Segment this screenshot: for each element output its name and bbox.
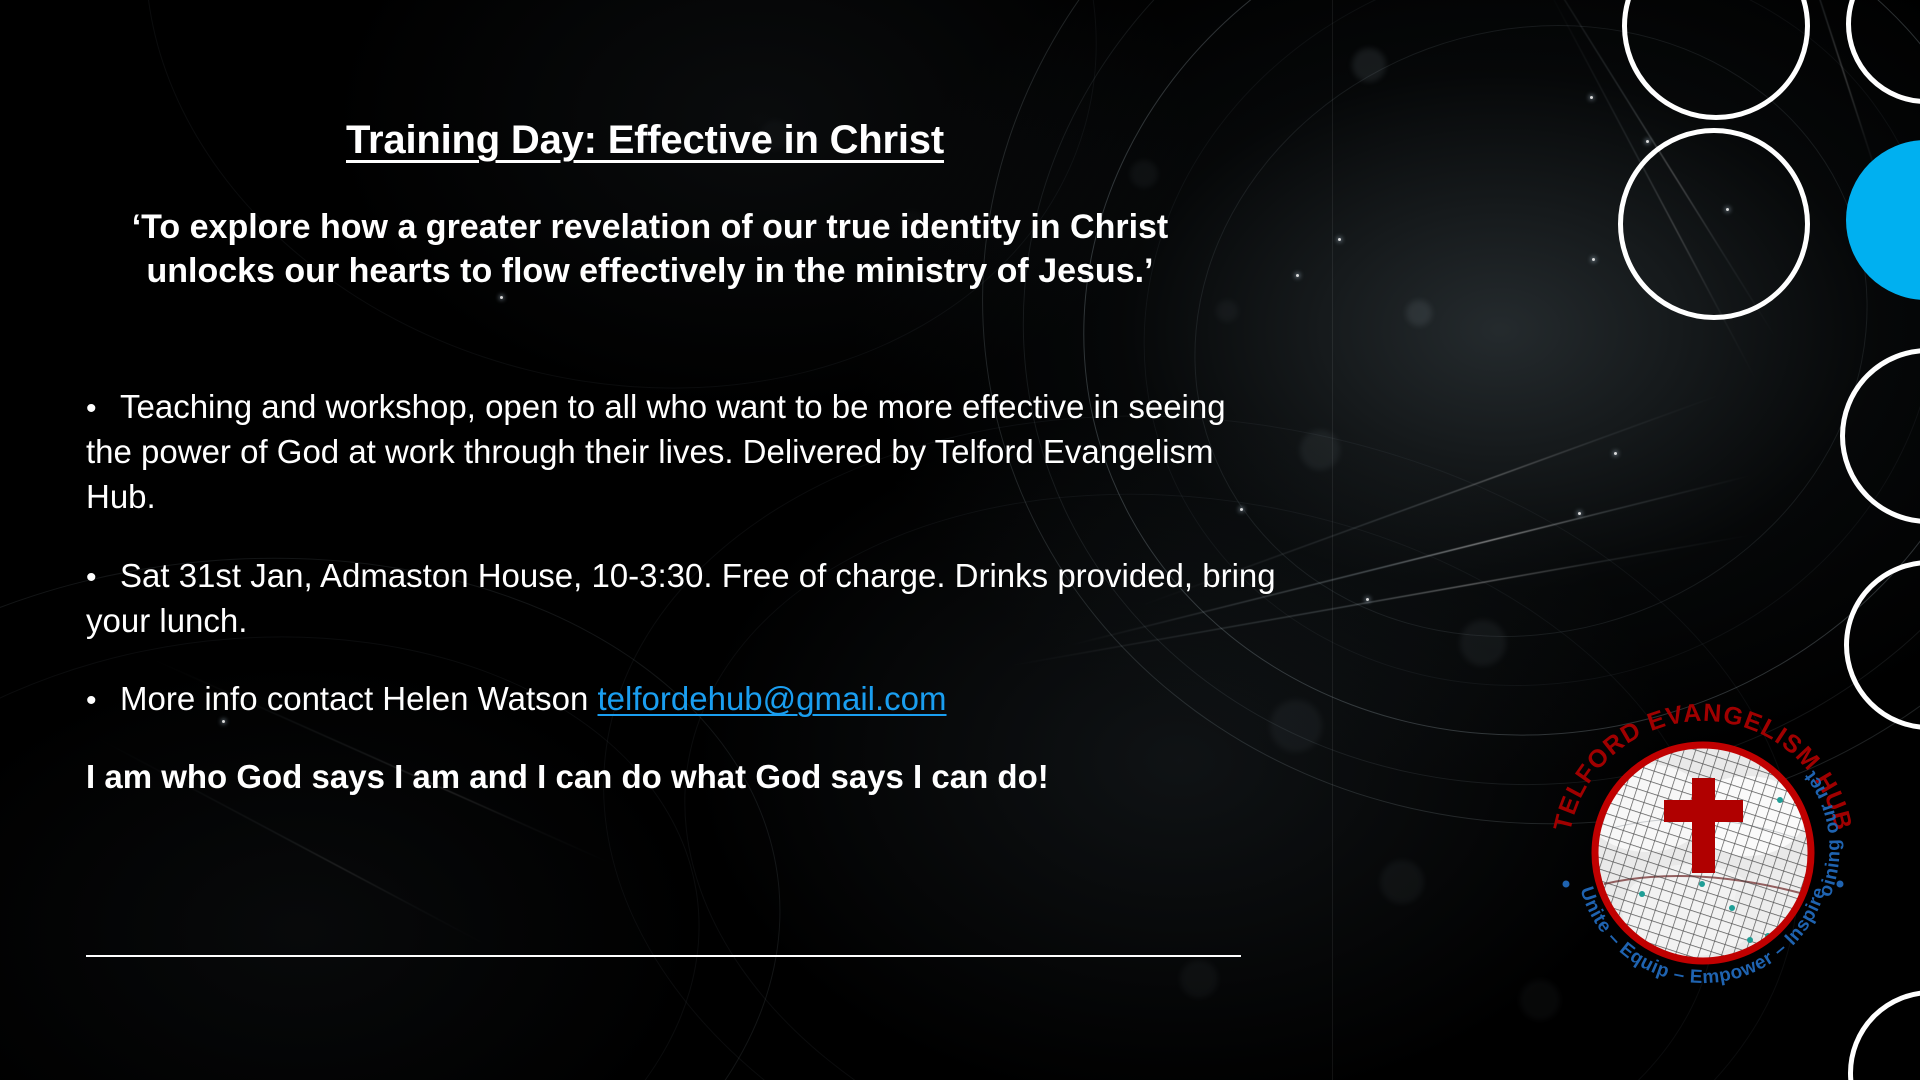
slide-canvas: Training Day: Effective in Christ ‘To ex…: [0, 0, 1920, 1080]
page-title-text: Training Day: Effective in Christ: [346, 118, 944, 162]
page-title: Training Day: Effective in Christ: [0, 118, 1290, 163]
background-panel-seam: [1332, 0, 1333, 1080]
bullet-item-teaching: •Teaching and workshop, open to all who …: [86, 385, 1276, 520]
footer-divider: [86, 955, 1241, 957]
decorative-ring: [1618, 128, 1810, 320]
bullet-marker: •: [86, 558, 120, 599]
email-link[interactable]: telfordehub@gmail.com: [598, 680, 947, 717]
bullet-text: Sat 31st Jan, Admaston House, 10-3:30. F…: [86, 557, 1276, 639]
slide-content: Training Day: Effective in Christ ‘To ex…: [0, 0, 1290, 1080]
subtitle-line-1: ‘To explore how a greater revelation of …: [60, 205, 1240, 249]
slide-subtitle: ‘To explore how a greater revelation of …: [60, 205, 1240, 293]
bullet-marker: •: [86, 389, 120, 430]
bullet-text: Teaching and workshop, open to all who w…: [86, 388, 1226, 515]
bullet-item-contact: •More info contact Helen Watson telforde…: [86, 677, 1276, 722]
body-content: •Teaching and workshop, open to all who …: [86, 385, 1276, 799]
subtitle-line-2: unlocks our hearts to flow effectively i…: [60, 249, 1240, 293]
bullet-marker: •: [86, 681, 120, 722]
tagline-text: I am who God says I am and I can do what…: [86, 756, 1276, 799]
contact-prefix-text: More info contact Helen Watson: [120, 680, 598, 717]
bullet-item-schedule: •Sat 31st Jan, Admaston House, 10-3:30. …: [86, 554, 1276, 644]
telford-evangelism-hub-logo: TELFORD EVANGELISM HUB Joining our nets …: [1542, 688, 1864, 1010]
